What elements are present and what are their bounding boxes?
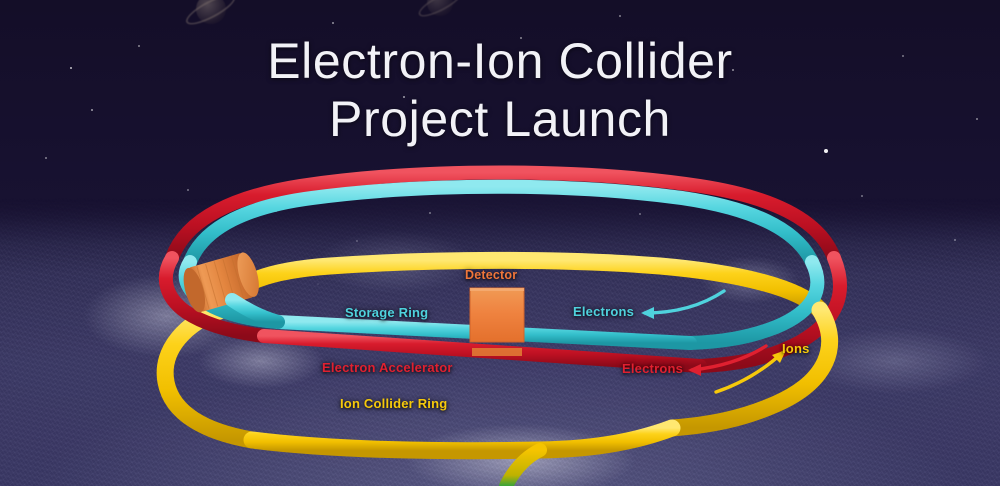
label-detector: Detector: [465, 268, 517, 282]
label-electrons-accelerator: Electrons: [622, 361, 683, 376]
label-electrons-storage-ring: Electrons: [573, 304, 634, 319]
electrons-cyan-arrow: [641, 291, 724, 319]
eic-project-launch-banner: Electron-Ion Collider Project Launch Sto…: [0, 0, 1000, 486]
label-storage-ring: Storage Ring: [345, 305, 428, 320]
storage-ring-back: [190, 187, 812, 262]
page-title: Electron-Ion Collider Project Launch: [0, 32, 1000, 148]
title-line-2: Project Launch: [0, 90, 1000, 148]
label-ion-collider-ring: Ion Collider Ring: [340, 396, 447, 411]
title-line-1: Electron-Ion Collider: [267, 33, 733, 89]
label-ions: Ions: [782, 341, 810, 356]
label-electron-accelerator: Electron Accelerator: [322, 360, 453, 375]
